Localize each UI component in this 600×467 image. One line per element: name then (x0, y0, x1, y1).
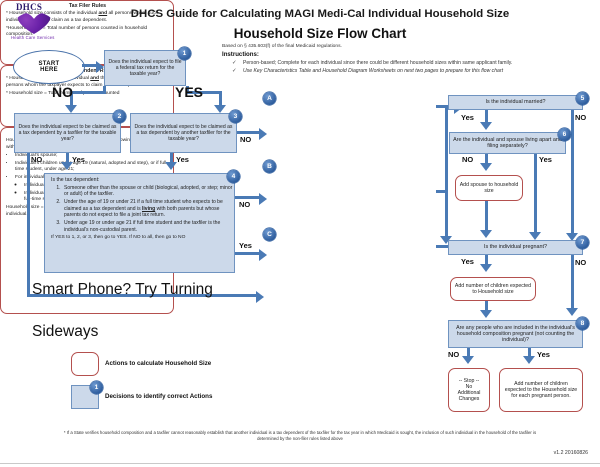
heart-icon (14, 12, 54, 34)
action-add-children-pregnant-text: Add number of children expected to the H… (500, 380, 582, 400)
action-add-spouse-text: Add spouse to household size (456, 181, 522, 195)
document-title: DHCS Guide for Calculating MAGI Medi-Cal… (90, 8, 550, 20)
label-q4-no: NO (239, 200, 250, 209)
action-stop-text: -- Stop -- No Additional Changes (449, 377, 489, 404)
label-q8-yes: Yes (537, 350, 550, 359)
label-q6-yes: Yes (539, 155, 552, 164)
connector-q6-yes (534, 154, 537, 236)
promo-line-2: Sideways (32, 323, 98, 341)
badge-5: 5 (576, 92, 589, 105)
label-q2-no: NO (31, 155, 42, 164)
decision-q5-text: Is the individual married? (449, 98, 582, 106)
badge-2: 2 (113, 110, 126, 123)
decision-q4-tail: If YES to 1, 2, or 3, then go to YES. If… (45, 235, 234, 242)
label-q7-no: NO (575, 258, 586, 267)
label-q8-no: NO (448, 350, 459, 359)
decision-q2-text: Does the individual expect to be claimed… (15, 123, 120, 143)
connector-q2-no-v (27, 153, 30, 297)
decision-q8[interactable]: Are any people who are included in the i… (448, 320, 583, 348)
decision-q4[interactable]: Is the tax dependent: Someone other than… (44, 173, 235, 273)
badge-c: C (263, 228, 276, 241)
badge-6: 6 (558, 128, 571, 141)
logo-wordmark: DHCS (16, 2, 42, 12)
badge-3: 3 (229, 110, 242, 123)
check-icon: ✓ (232, 68, 237, 74)
arrow-down-icon (462, 356, 474, 364)
badge-4: 4 (227, 170, 240, 183)
action-stop: -- Stop -- No Additional Changes (448, 368, 490, 412)
connector-b-q7-v (445, 108, 448, 241)
dhcs-logo: DHCS Health Care Services (8, 2, 62, 44)
arrow-down-icon (214, 105, 226, 113)
arrow-down-icon (480, 122, 492, 130)
arrow-down-icon (65, 105, 77, 113)
legend-action-swatch (71, 352, 99, 376)
based-on-note: Based on § 435.603(f) of the final Medic… (222, 44, 342, 49)
list-item: Under the age of 19 or under 21 if a ful… (62, 199, 234, 218)
decision-q6-text: Are the individual and spouse living apa… (450, 136, 565, 151)
label-q3-yes: Yes (176, 155, 189, 164)
arrow-right-icon (259, 128, 267, 140)
action-add-spouse: Add spouse to household size (455, 175, 523, 201)
connector-q1-no-h (70, 91, 106, 94)
footnote: * If a State verifies household composit… (60, 430, 540, 442)
decision-q7-text: Is the individual pregnant? (449, 243, 582, 251)
label-q5-yes: Yes (461, 113, 474, 122)
label-q5-no: NO (575, 113, 586, 122)
instruction-item: Use Key Characteristics Table and Househ… (243, 68, 503, 74)
list-item: Under age 19 or under age 21 if full tim… (62, 220, 234, 233)
arrow-down-icon (529, 232, 541, 240)
label-q3-no: NO (240, 135, 251, 144)
label-q7-yes: Yes (461, 257, 474, 266)
decision-q5[interactable]: Is the individual married? (448, 95, 583, 110)
action-add-children-text: Add number of children expected to House… (451, 282, 535, 296)
arrow-right-icon (96, 61, 104, 73)
start-node: START HERE (13, 50, 85, 84)
connector-q7-no (571, 255, 574, 313)
legend-decision-label: Decisions to identify correct Actions (105, 393, 212, 400)
arrow-down-icon (480, 230, 492, 238)
action-add-children-pregnant: Add number of children expected to the H… (499, 368, 583, 412)
start-line2: HERE (40, 67, 58, 73)
action-add-children: Add number of children expected to House… (450, 277, 536, 301)
check-icon: ✓ (232, 60, 237, 66)
arrow-down-icon (566, 308, 578, 316)
connector-q5-no-v (571, 110, 574, 238)
decision-q3-text: Does the individual expect to be claimed… (131, 123, 236, 143)
list-item: Someone other than the spouse or child (… (62, 185, 234, 198)
flowchart-page: DHCS Health Care Services DHCS Guide for… (0, 0, 600, 467)
arrow-down-icon (480, 310, 492, 318)
decision-q1-text: Does the individual expect to file a fed… (105, 58, 185, 78)
logo-subtitle: Health Care Services (11, 35, 55, 40)
t: and (90, 76, 99, 81)
arrow-right-icon (256, 291, 264, 303)
label-q4-yes: Yes (239, 241, 252, 250)
chart-title: Household Size Flow Chart (180, 26, 460, 41)
decision-q4-heading: Is the tax dependent: (45, 174, 234, 185)
decision-q1[interactable]: Does the individual expect to file a fed… (104, 50, 186, 86)
bottom-divider (0, 463, 600, 464)
arrow-down-icon (523, 356, 535, 364)
badge-1: 1 (178, 47, 191, 60)
badge-7: 7 (576, 236, 589, 249)
decision-q7[interactable]: Is the individual pregnant? (448, 240, 583, 255)
version-label: v1.2 20160826 (554, 450, 588, 456)
arrow-right-icon (259, 193, 267, 205)
label-q1-yes: YES (175, 84, 203, 100)
arrow-down-icon (480, 163, 492, 171)
badge-b: B (263, 160, 276, 173)
decision-q6[interactable]: Are the individual and spouse living apa… (449, 132, 566, 154)
promo-line-1: Smart Phone? Try Turning (32, 281, 213, 299)
label-q1-no: NO (52, 84, 73, 100)
decision-q2[interactable]: Does the individual expect to be claimed… (14, 113, 121, 153)
arrow-down-icon (480, 264, 492, 272)
label-q6-no: NO (462, 155, 473, 164)
decision-q3[interactable]: Does the individual expect to be claimed… (130, 113, 237, 153)
arrow-right-icon (259, 249, 267, 261)
badge-8: 8 (576, 317, 589, 330)
instructions-label: Instructions: (222, 51, 259, 58)
legend-action-label: Actions to calculate Household Size (105, 360, 211, 367)
badge-a: A (263, 92, 276, 105)
connector-b-q7-h (436, 190, 447, 193)
badge-legend: 1 (90, 381, 103, 394)
instruction-item: Person-based; Complete for each individu… (243, 60, 512, 66)
label-q2-yes: Yes (72, 155, 85, 164)
decision-q4-list: Someone other than the spouse or child (… (45, 185, 234, 233)
decision-q8-text: Are any people who are included in the i… (449, 324, 582, 345)
